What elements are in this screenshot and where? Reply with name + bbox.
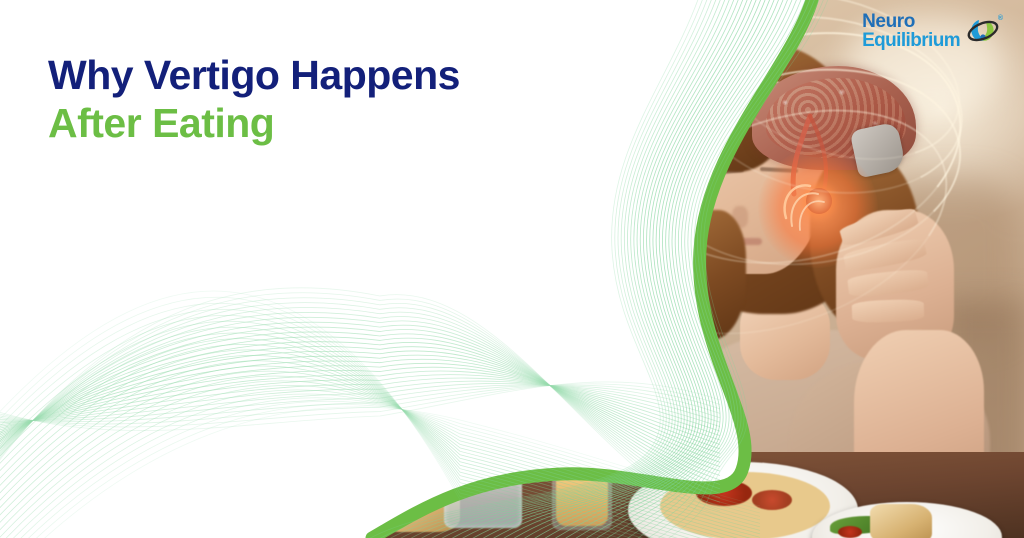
brand-logo[interactable]: Neuro Equilibrium ® — [862, 12, 1000, 50]
food-table-photo — [360, 452, 1024, 538]
equilibrium-swirl-icon: ® — [966, 16, 1000, 46]
brand-name-top: Neuro — [862, 12, 960, 31]
tomato-bit — [838, 526, 862, 538]
tomato-sauce-2 — [752, 490, 792, 510]
water-glass — [444, 454, 522, 528]
tomato-sauce — [696, 480, 752, 506]
finger-4 — [852, 299, 925, 323]
headline-line-1: Why Vertigo Happens — [48, 52, 608, 100]
brand-logo-wordmark: Neuro Equilibrium — [862, 12, 960, 50]
juice-glass-rim — [552, 472, 612, 530]
brand-name-bottom: Equilibrium — [862, 31, 960, 50]
page-title: Why Vertigo Happens After Eating — [48, 52, 608, 147]
headline-line-2: After Eating — [48, 100, 608, 148]
registered-trademark-icon: ® — [998, 15, 1003, 22]
bread-slice — [870, 504, 932, 538]
vertigo-banner: Why Vertigo Happens After Eating Neuro E… — [0, 0, 1024, 538]
spaghetti — [660, 472, 830, 538]
